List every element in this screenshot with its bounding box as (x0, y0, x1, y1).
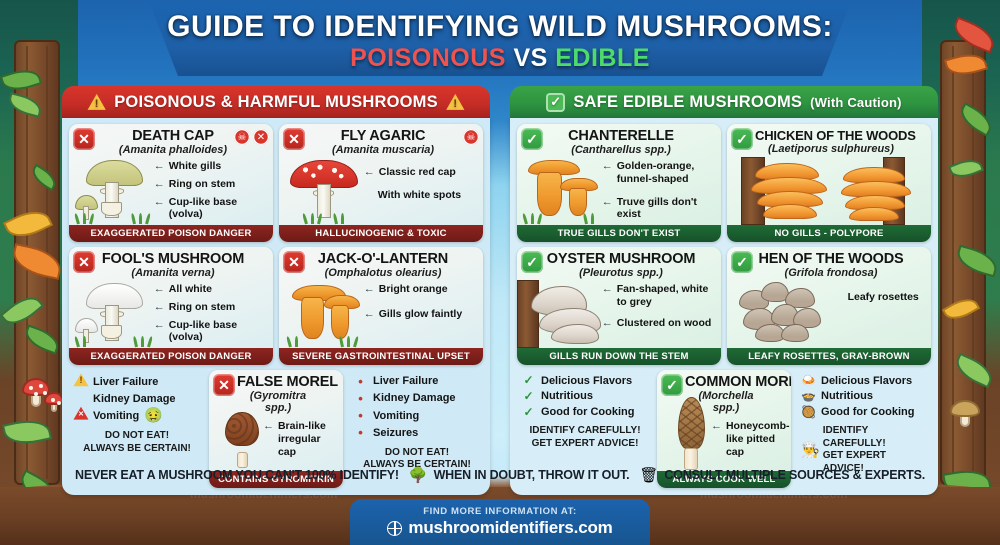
sick-face-icon: 🤢 (144, 408, 163, 423)
advice-note-line1: IDENTIFY CAREFULLY! (823, 425, 929, 450)
footer-tagline: FIND MORE INFORMATION AT: (423, 506, 577, 517)
fools-mushroom-illustration (73, 281, 163, 347)
globe-icon (387, 521, 402, 536)
feature-labels: ←Honeycomb-like pitted cap (711, 406, 786, 463)
card-chicken-of-the-woods[interactable]: ✓ CHICKEN OF THE WOODS (Laetiporus sulph… (727, 124, 931, 242)
species-name: COMMON MOREL (685, 375, 767, 390)
arrow-icon: ← (364, 308, 375, 320)
safety-tip-text: WHEN IN DOUBT, THROW IT OUT. (434, 468, 630, 482)
species-name: FOOL'S MUSHROOM (97, 252, 249, 267)
symptom-label: Liver Failure (93, 375, 158, 390)
bullet-icon: • (353, 373, 368, 390)
feature-label: White gills (169, 160, 222, 173)
benefit-label: Good for Cooking (541, 405, 634, 420)
safety-tip-text: CONSULT MULTIPLE SOURCES & EXPERTS. (664, 468, 925, 482)
card-footer: EXAGGERATED POISON DANGER (69, 348, 273, 365)
edible-row-2: ✓ OYSTER MUSHROOM (Pleurotus spp.) ←Fan-… (517, 247, 931, 365)
card-footer: NO GILLS - POLYPORE (727, 225, 931, 242)
warning-note-line2: ALWAYS BE CERTAIN! (73, 443, 201, 456)
feature-labels: ←Classic red cap With white spots (364, 160, 478, 207)
edible-row-1: ✓ CHANTERELLE (Cantharellus spp.) (517, 124, 931, 242)
species-latin: (Amanita verna) (97, 267, 249, 279)
feature-label: Clustered on wood (617, 317, 712, 330)
danger-icons: ☠ ✕ (234, 129, 269, 145)
arrow-icon: ← (602, 317, 613, 329)
check-badge-icon: ✓ (546, 93, 565, 112)
card-chanterelle[interactable]: ✓ CHANTERELLE (Cantharellus spp.) (517, 124, 721, 242)
safety-tips-bar: NEVER EAT A MUSHROOM YOU CAN'T 100% IDEN… (60, 462, 940, 488)
symptom-item: Kidney Damage (73, 392, 201, 407)
species-latin: (Laetiporus sulphureus) (755, 143, 907, 155)
edible-header: ✓ SAFE EDIBLE MUSHROOMS (With Caution) (510, 86, 938, 118)
species-latin: (Grifola frondosa) (755, 267, 907, 279)
feature-labels: ←White gills ←Ring on stem ←Cup-like bas… (154, 160, 268, 226)
species-latin: (Cantharellus spp.) (545, 144, 697, 156)
check-icon: ✓ (521, 389, 536, 405)
symptom-label: Liver Failure (373, 374, 438, 389)
poisonous-header: POISONOUS & HARMFUL MUSHROOMS (62, 86, 490, 118)
edible-column: ✓ SAFE EDIBLE MUSHROOMS (With Caution) ✓… (510, 86, 938, 495)
benefit-label: Delicious Flavors (541, 374, 632, 389)
feature-label: Golden-orange, funnel-shaped (617, 160, 716, 186)
poster-title-block: GUIDE TO IDENTIFYING WILD MUSHROOMS: POI… (150, 4, 850, 76)
infographic-poster: mushroomidentifiers.com mushroomidentifi… (0, 0, 1000, 545)
warning-note-line1: DO NOT EAT! (353, 447, 481, 460)
danger-icons: ☠ (463, 129, 479, 145)
benefit-label: Good for Cooking (821, 405, 914, 420)
species-name: CHICKEN OF THE WOODS (755, 129, 907, 143)
subtitle-vs: VS (513, 44, 547, 72)
chanterelle-illustration (521, 158, 611, 224)
benefit-item: 🥘 Good for Cooking (801, 405, 929, 421)
safety-tip: NEVER EAT A MUSHROOM YOU CAN'T 100% IDEN… (75, 468, 399, 482)
card-fly-agaric[interactable]: ✕ ☠ FLY AGARIC (Amanita muscaria) (279, 124, 483, 242)
x-badge-icon: ✕ (283, 251, 305, 273)
safety-tip: 🗑 CONSULT MULTIPLE SOURCES & EXPERTS. (639, 468, 925, 483)
warning-triangle-icon (87, 94, 106, 111)
benefit-item: 🍲 Nutritious (801, 389, 929, 405)
feature-label: With white spots (378, 189, 461, 202)
feature-label: Ring on stem (169, 301, 236, 314)
species-name: OYSTER MUSHROOM (545, 252, 697, 267)
food-cover-icon: 🍛 (801, 373, 816, 389)
warning-triangle-icon (446, 94, 465, 111)
symptom-item: • Vomiting (353, 407, 481, 424)
card-title: CHANTERELLE (Cantharellus spp.) (517, 124, 721, 156)
arrow-icon: ← (154, 178, 165, 190)
safety-tip-text: NEVER EAT A MUSHROOM YOU CAN'T 100% IDEN… (75, 468, 399, 482)
x-badge-icon: ✕ (213, 374, 235, 396)
species-name: DEATH CAP (97, 129, 249, 144)
check-badge-icon: ✓ (521, 128, 543, 150)
card-footer: EXAGGERATED POISON DANGER (69, 225, 273, 242)
species-latin: (Pleurotus spp.) (545, 267, 697, 279)
mushroom-decoration (44, 392, 64, 416)
danger-triangle-icon (73, 406, 89, 420)
footer-bar: FIND MORE INFORMATION AT: mushroomidenti… (350, 499, 650, 545)
card-footer: SEVERE GASTROINTESTINAL UPSET (279, 348, 483, 365)
arrow-icon: ← (711, 420, 722, 432)
symptom-label: Kidney Damage (93, 392, 176, 407)
feature-label: Truve gills don't exist (617, 196, 716, 222)
poisonous-row-1: ✕ ☠ ✕ DEATH CAP (Amanita phalloides) (69, 124, 483, 242)
feature-label: Bright orange (379, 283, 448, 296)
edible-header-label: SAFE EDIBLE MUSHROOMS (573, 93, 802, 112)
arrow-icon: ← (154, 301, 165, 313)
mushroom-decoration (950, 400, 980, 430)
page-subtitle: POISONOUS VS EDIBLE (150, 44, 850, 73)
safety-tip: 🌳 WHEN IN DOUBT, THROW IT OUT. (409, 468, 629, 483)
x-circle-icon: ✕ (253, 129, 269, 145)
card-fools-mushroom[interactable]: ✕ FOOL'S MUSHROOM (Amanita verna) (69, 247, 273, 365)
x-badge-icon: ✕ (73, 128, 95, 150)
tree-icon: 🌳 (409, 468, 428, 483)
warning-triangle-icon (73, 373, 89, 387)
feature-label: Cup-like base (volva) (169, 319, 268, 345)
symptom-item: Liver Failure (73, 373, 201, 392)
benefit-label: Nutritious (821, 389, 873, 404)
card-oyster-mushroom[interactable]: ✓ OYSTER MUSHROOM (Pleurotus spp.) ←Fan-… (517, 247, 721, 365)
species-latin: (Amanita phalloides) (97, 144, 249, 156)
feature-labels: Leafy rosettes (840, 291, 926, 309)
check-icon: ✓ (521, 405, 536, 421)
feature-labels: ←All white ←Ring on stem ←Cup-like base … (154, 283, 268, 349)
arrow-icon: ← (364, 166, 375, 178)
card-title: FOOL'S MUSHROOM (Amanita verna) (69, 247, 273, 279)
arrow-icon: ← (602, 283, 613, 295)
bullet-icon: • (353, 390, 368, 407)
card-title: FLY AGARIC (Amanita muscaria) (279, 124, 483, 156)
feature-label: Ring on stem (169, 178, 236, 191)
benefit-label: Nutritious (541, 389, 593, 404)
jack-o-lantern-illustration (283, 281, 373, 347)
check-badge-icon: ✓ (661, 374, 683, 396)
feature-label: Classic red cap (379, 166, 456, 179)
card-title: HEN OF THE WOODS (Grifola frondosa) (727, 247, 931, 279)
symptom-label: Kidney Damage (373, 391, 456, 406)
arrow-icon: ← (154, 319, 165, 331)
check-badge-icon: ✓ (521, 251, 543, 273)
species-latin: (Amanita muscaria) (307, 144, 459, 156)
subtitle-edible: EDIBLE (555, 44, 650, 72)
species-latin: (Omphalotus olearius) (307, 267, 459, 279)
x-badge-icon: ✕ (283, 128, 305, 150)
card-hen-of-the-woods[interactable]: ✓ HEN OF THE WOODS (Grifola frondosa) (727, 247, 931, 365)
card-footer: HALLUCINOGENIC & TOXIC (279, 225, 483, 242)
poisonous-header-label: POISONOUS & HARMFUL MUSHROOMS (114, 93, 438, 112)
feature-labels: ←Golden-orange, funnel-shaped ←Truve gil… (602, 160, 716, 226)
skull-icon: ☠ (234, 129, 250, 145)
card-footer: LEAFY ROSETTES, GRAY-BROWN (727, 348, 931, 365)
check-badge-icon: ✓ (731, 128, 753, 150)
card-death-cap[interactable]: ✕ ☠ ✕ DEATH CAP (Amanita phalloides) (69, 124, 273, 242)
arrow-icon: ← (154, 196, 165, 208)
advice-note-line2: GET EXPERT ADVICE! (521, 438, 649, 451)
feature-label: All white (169, 283, 212, 296)
card-footer: GILLS RUN DOWN THE STEM (517, 348, 721, 365)
poisonous-row-2: ✕ FOOL'S MUSHROOM (Amanita verna) (69, 247, 483, 365)
species-name: HEN OF THE WOODS (755, 252, 907, 267)
symptom-label: Vomiting (373, 409, 419, 424)
card-footer: TRUE GILLS DON'T EXIST (517, 225, 721, 242)
species-name: FALSE MOREL (237, 375, 319, 390)
benefit-item: ✓ Good for Cooking (521, 405, 649, 421)
species-name: CHANTERELLE (545, 129, 697, 144)
advice-note: IDENTIFY CAREFULLY! GET EXPERT ADVICE! (521, 425, 649, 450)
chef-icon: 👨‍🍳 (801, 443, 820, 458)
cooking-pot-icon: 🥘 (801, 405, 816, 421)
x-badge-icon: ✕ (73, 251, 95, 273)
symptom-label: Vomiting (93, 409, 139, 424)
check-badge-icon: ✓ (731, 251, 753, 273)
footer-url[interactable]: mushroomidentifiers.com (408, 518, 612, 538)
edible-header-caution: (With Caution) (810, 95, 902, 110)
poisonous-column: POISONOUS & HARMFUL MUSHROOMS ✕ ☠ ✕ DEAT… (62, 86, 490, 495)
benefit-item: 🍛 Delicious Flavors (801, 373, 929, 389)
card-jack-o-lantern[interactable]: ✕ JACK-O'-LANTERN (Omphalotus olearius) (279, 247, 483, 365)
hen-of-the-woods-illustration (737, 280, 843, 346)
chicken-of-the-woods-illustration (727, 157, 931, 225)
feature-label: Honeycomb-like pitted cap (726, 420, 790, 458)
warning-note: DO NOT EAT! ALWAYS BE CERTAIN! (73, 430, 201, 455)
advice-note-line1: IDENTIFY CAREFULLY! (521, 425, 649, 438)
symptom-item: • Liver Failure (353, 373, 481, 390)
feature-label: Gills glow faintly (379, 308, 462, 321)
page-title: GUIDE TO IDENTIFYING WILD MUSHROOMS: (150, 4, 850, 44)
check-icon: ✓ (521, 373, 536, 389)
card-title: CHICKEN OF THE WOODS (Laetiporus sulphur… (727, 124, 931, 155)
species-name: FLY AGARIC (307, 129, 459, 144)
poisonous-body: ✕ ☠ ✕ DEATH CAP (Amanita phalloides) (62, 118, 490, 495)
symptom-item: • Kidney Damage (353, 390, 481, 407)
arrow-icon: ← (602, 160, 613, 172)
symptom-item: Vomiting 🤢 (73, 406, 201, 425)
death-cap-illustration (73, 158, 163, 224)
benefit-item: ✓ Nutritious (521, 389, 649, 405)
feature-label: Brain-like irregular cap (278, 420, 338, 458)
trash-icon: 🗑 (639, 468, 658, 483)
bullet-icon: • (353, 407, 368, 424)
arrow-icon: ← (602, 196, 613, 208)
feature-label: Fan-shaped, white to grey (617, 283, 716, 309)
bullet-icon: • (353, 424, 368, 441)
warning-note-line1: DO NOT EAT! (73, 430, 201, 443)
card-title: JACK-O'-LANTERN (Omphalotus olearius) (279, 247, 483, 279)
arrow-icon: ← (364, 283, 375, 295)
feature-labels: ←Bright orange ←Gills glow faintly (364, 283, 478, 326)
skull-crossbones-icon: ☠ (463, 129, 479, 145)
benefit-label: Delicious Flavors (821, 374, 912, 389)
arrow-icon: ← (154, 283, 165, 295)
footer-url-row[interactable]: mushroomidentifiers.com (387, 518, 612, 538)
card-title: OYSTER MUSHROOM (Pleurotus spp.) (517, 247, 721, 279)
feature-label: Leafy rosettes (848, 291, 919, 303)
pot-icon: 🍲 (801, 389, 816, 405)
species-name: JACK-O'-LANTERN (307, 252, 459, 267)
feature-labels: ←Fan-shaped, white to grey ←Clustered on… (602, 283, 716, 334)
arrow-icon: ← (154, 160, 165, 172)
symptom-label: Seizures (373, 426, 418, 441)
symptom-item: • Seizures (353, 424, 481, 441)
fly-agaric-illustration (283, 158, 373, 224)
feature-label: Cup-like base (volva) (169, 196, 268, 222)
subtitle-poisonous: POISONOUS (350, 44, 506, 72)
edible-body: ✓ CHANTERELLE (Cantharellus spp.) (510, 118, 938, 495)
benefit-item: ✓ Delicious Flavors (521, 373, 649, 389)
feature-labels: ←Brain-like irregular cap (263, 406, 338, 463)
arrow-icon: ← (263, 420, 274, 432)
